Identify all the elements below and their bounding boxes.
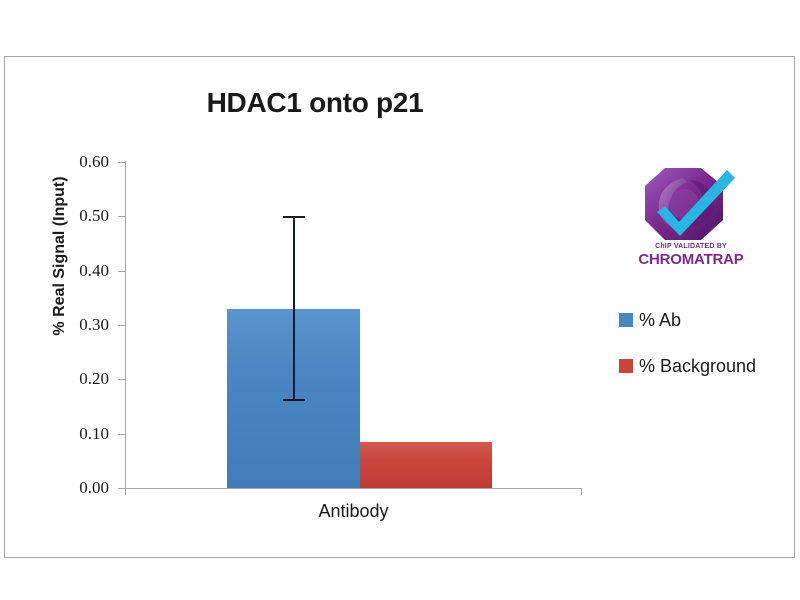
y-axis-tick <box>118 379 125 380</box>
legend-swatch-background-icon <box>619 359 633 373</box>
error-bar-percent-ab <box>227 216 360 401</box>
bar-percent-background <box>360 442 492 488</box>
y-axis-tick-label: 0.60 <box>51 152 109 172</box>
y-axis-tick <box>118 488 125 489</box>
chart-title: HDAC1 onto p21 <box>5 87 625 119</box>
legend-swatch-ab-icon <box>619 313 633 327</box>
y-axis-tick <box>118 434 125 435</box>
y-axis-tick-label: 0.00 <box>51 478 109 498</box>
legend-item-ab: % Ab <box>619 297 789 343</box>
error-bar-cap-bottom <box>283 399 305 401</box>
chart-frame: HDAC1 onto p21 % Real Signal (Input) 0.6… <box>4 56 795 558</box>
y-axis-tick-label: 0.10 <box>51 424 109 444</box>
y-axis-tick <box>118 271 125 272</box>
x-axis-line <box>125 488 582 489</box>
y-axis-tick-label: 0.40 <box>51 261 109 281</box>
legend-item-background: % Background <box>619 343 789 389</box>
plot-area <box>125 162 581 488</box>
chromatrap-caption-small: ChIP VALIDATED BY <box>639 243 743 250</box>
chart-legend: % Ab % Background <box>619 297 789 389</box>
chromatrap-caption-big: CHROMATRAP <box>635 251 747 268</box>
y-axis-tick-label: 0.20 <box>51 369 109 389</box>
y-axis-tick <box>118 325 125 326</box>
legend-label-background: % Background <box>639 356 756 377</box>
legend-label-ab: % Ab <box>639 310 681 331</box>
x-axis-start-tick <box>125 488 126 495</box>
y-axis-tick <box>118 216 125 217</box>
y-axis-tick-label: 0.30 <box>51 315 109 335</box>
y-axis-tick-label: 0.50 <box>51 206 109 226</box>
y-axis-tick <box>118 162 125 163</box>
y-axis-title: % Real Signal (Input) <box>51 141 69 371</box>
error-bar-stem <box>293 216 295 401</box>
error-bar-cap-top <box>283 216 305 218</box>
x-axis-end-tick <box>581 488 582 495</box>
x-axis-category-label: Antibody <box>125 501 582 522</box>
